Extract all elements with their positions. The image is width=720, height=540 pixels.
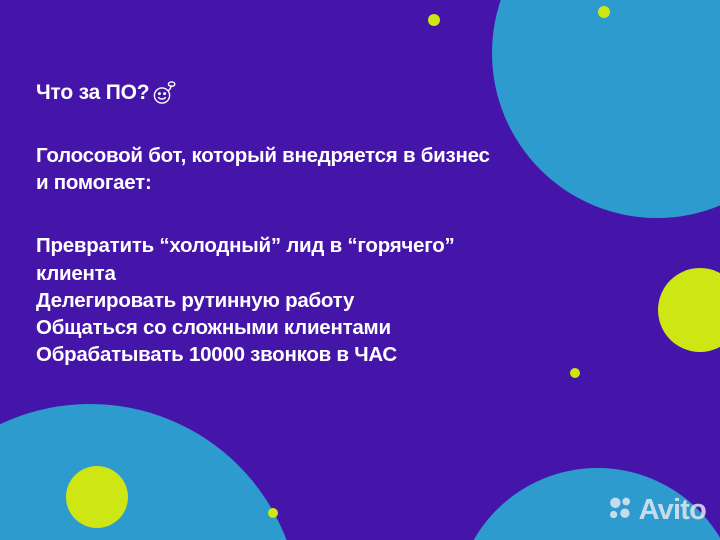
avito-watermark: Avito: [608, 495, 706, 526]
bullet-line: Общаться со сложными клиентами: [36, 314, 596, 341]
decorative-circle-bottom-left: [0, 404, 300, 540]
slide-bullet-list: Превратить “холодный” лид в “горячего” к…: [36, 232, 596, 368]
avito-wordmark: Avito: [639, 496, 706, 525]
decorative-dot-middle-right: [570, 368, 580, 378]
decorative-dot-top-right: [598, 6, 610, 18]
bullet-line: Превратить “холодный” лид в “горячего”: [36, 232, 596, 259]
slide-heading: Что за ПО?: [36, 80, 596, 105]
decorative-dot-top-center: [428, 14, 440, 26]
decorative-circle-yellow-right: [658, 268, 720, 352]
bullet-line: Обрабатывать 10000 звонков в ЧАС: [36, 341, 596, 368]
slide-heading-text: Что за ПО?: [36, 80, 149, 105]
avito-dots-logo-icon: [608, 495, 634, 526]
decorative-circle-yellow-bottom-left: [66, 466, 128, 528]
robot-face-icon: [151, 81, 177, 105]
slide-lead-paragraph: Голосовой бот, который внедряется в бизн…: [36, 142, 596, 196]
decorative-dot-bottom-left: [268, 508, 278, 518]
lead-line: и помогает:: [36, 169, 596, 196]
lead-line: Голосовой бот, который внедряется в бизн…: [36, 142, 596, 169]
slide-content: Что за ПО? Голосовой бот, который внедря…: [36, 80, 596, 369]
bullet-line: Делегировать рутинную работу: [36, 287, 596, 314]
promo-slide: Что за ПО? Голосовой бот, который внедря…: [0, 0, 720, 540]
bullet-line: клиента: [36, 260, 596, 287]
